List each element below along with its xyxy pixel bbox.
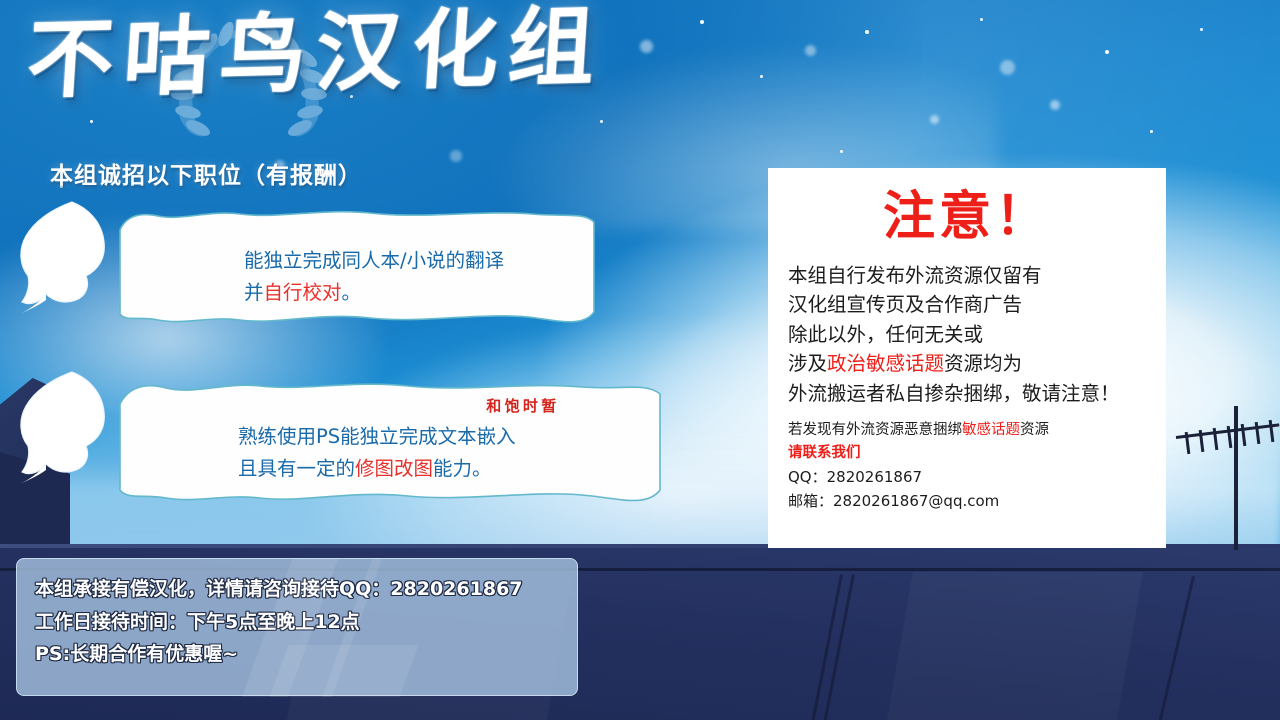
role-requirement-line-1: 能独立完成同人本/小说的翻译 xyxy=(244,246,504,276)
role-req-prefix: 且具有一定的 xyxy=(238,457,355,480)
role-requirement-line-2: 并自行校对。 xyxy=(244,278,361,308)
sparkle-dot xyxy=(865,30,869,34)
sparkle-dot xyxy=(700,20,704,24)
notice-text: 除此以外，任何无关或 xyxy=(788,323,983,346)
notice-text: 汉化组宣传页及合作商广告 xyxy=(788,293,1022,316)
notice-text: 本组自行发布外流资源仅留有 xyxy=(788,264,1042,287)
notice-body-line: 外流搬运者私自掺杂捆绑，敬请注意！ xyxy=(788,379,1146,409)
bokeh-dot xyxy=(805,45,816,56)
sparkle-dot xyxy=(760,75,763,78)
header-block: 不咕鸟汉化组 本组诚招以下职位（有报酬） xyxy=(28,8,604,101)
bokeh-dot xyxy=(1050,100,1060,110)
rooftop-shading xyxy=(887,572,1143,720)
notice-contact-cta[interactable]: 请联系我们 xyxy=(788,442,1146,465)
notice-body-line: 汉化组宣传页及合作商广告 xyxy=(788,290,1146,320)
commission-banner: 本组承接有偿汉化，详情请咨询接待QQ：2820261867 工作日接待时间：下午… xyxy=(16,558,578,696)
notice-suffix: 资源均为 xyxy=(944,352,1022,375)
notice-qq[interactable]: QQ：2820261867 xyxy=(788,465,1146,489)
sparkle-dot xyxy=(90,120,93,123)
bokeh-dot xyxy=(930,115,939,124)
bokeh-dot xyxy=(450,150,462,162)
sparkle-dot xyxy=(1105,50,1109,54)
notice-body-line: 除此以外，任何无关或 xyxy=(788,320,1146,350)
sparkle-dot xyxy=(980,18,983,21)
sparkle-dot xyxy=(840,150,843,153)
notice-text: 外流搬运者私自掺杂捆绑，敬请注意！ xyxy=(788,382,1120,405)
rooftop-seam xyxy=(1158,576,1195,720)
notice-small-highlight: 敏感话题 xyxy=(962,422,1020,438)
role-req-text: 熟练使用PS能独立完成文本嵌入 xyxy=(238,425,516,448)
role-req-highlight: 修图改图 xyxy=(355,457,433,480)
role-req-prefix: 并 xyxy=(244,281,264,304)
banner-stripe xyxy=(270,645,419,697)
tv-antenna-icon xyxy=(1176,400,1280,550)
role-req-text: 能独立完成同人本/小说的翻译 xyxy=(244,249,504,272)
notice-small-suffix: 资源 xyxy=(1020,422,1049,438)
sparkle-dot xyxy=(1200,28,1203,31)
dove-icon xyxy=(16,366,124,488)
notice-small-line: 若发现有外流资源恶意捆绑敏感话题资源 xyxy=(788,419,1146,442)
poster-canvas: 不咕鸟汉化组 本组诚招以下职位（有报酬） 翻译 能独立完成同人本/小说的翻译 并… xyxy=(0,0,1280,720)
recruit-subtitle: 本组诚招以下职位（有报酬） xyxy=(50,156,362,190)
notice-body-line: 本组自行发布外流资源仅留有 xyxy=(788,261,1146,291)
notice-body-line: 涉及政治敏感话题资源均为 xyxy=(788,349,1146,379)
page-title: 不咕鸟汉化组 xyxy=(25,1,608,108)
role-requirement-line-1: 熟练使用PS能独立完成文本嵌入 xyxy=(238,422,516,452)
sparkle-dot xyxy=(600,120,603,123)
notice-small-prefix: 若发现有外流资源恶意捆绑 xyxy=(788,422,962,438)
notice-title: 注意！ xyxy=(788,190,1146,245)
notice-panel: 注意！ 本组自行发布外流资源仅留有 汉化组宣传页及合作商广告 除此以外，任何无关… xyxy=(768,168,1166,548)
role-req-suffix: 能力。 xyxy=(433,457,492,480)
notice-highlight: 政治敏感话题 xyxy=(827,352,944,375)
notice-email[interactable]: 邮箱：2820261867@qq.com xyxy=(788,489,1146,513)
bokeh-dot xyxy=(1000,60,1015,75)
sparkle-dot xyxy=(1150,130,1153,133)
role-status-note: 暂时饱和 xyxy=(484,398,557,414)
bokeh-dot xyxy=(640,40,653,53)
dove-icon xyxy=(16,196,124,318)
role-requirement-line-2: 且具有一定的修图改图能力。 xyxy=(238,454,492,484)
role-req-highlight: 自行校对 xyxy=(264,281,342,304)
notice-prefix: 涉及 xyxy=(788,352,827,375)
role-req-suffix: 。 xyxy=(342,281,362,304)
